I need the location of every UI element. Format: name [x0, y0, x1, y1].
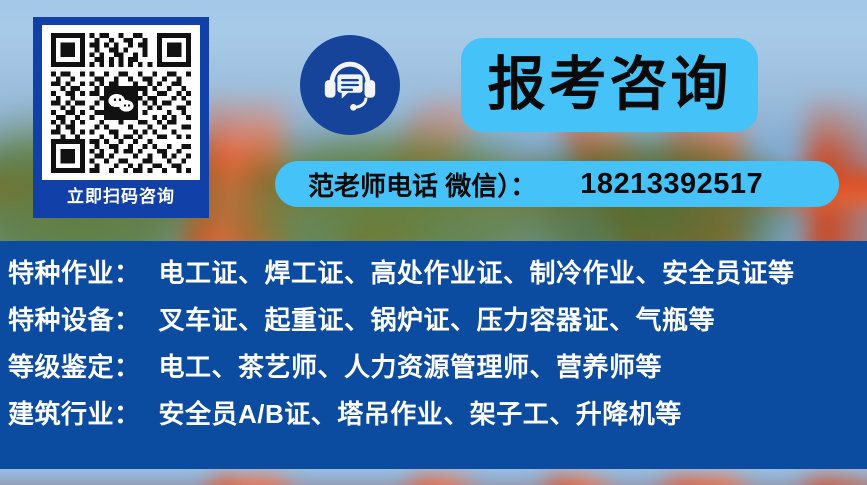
- category-items: 电工证、焊工证、高处作业证、制冷作业、安全员证等: [159, 253, 795, 290]
- category-label: 特种设备：: [8, 300, 141, 337]
- list-item: 建筑行业： 安全员A/B证、塔吊作业、架子工、升降机等: [0, 394, 867, 441]
- list-item: 等级鉴定： 电工、茶艺师、人力资源管理师、营养师等: [0, 347, 867, 394]
- category-items: 电工、茶艺师、人力资源管理师、营养师等: [159, 347, 663, 384]
- qr-code-card[interactable]: 立即扫码咨询: [33, 17, 209, 218]
- qr-code-surface: [42, 25, 200, 180]
- qr-card-caption: 立即扫码咨询: [36, 180, 206, 214]
- headset-support-icon: [300, 35, 400, 135]
- background-photo-bottom-blur: [0, 469, 867, 485]
- consult-title-text: 报考咨询: [487, 56, 731, 114]
- category-items: 安全员A/B证、塔吊作业、架子工、升降机等: [159, 394, 682, 431]
- list-item: 特种设备： 叉车证、起重证、锅炉证、压力容器证、气瓶等: [0, 300, 867, 347]
- promo-poster: 立即扫码咨询 报考咨询: [0, 0, 867, 485]
- certificate-list-band: 特种作业： 电工证、焊工证、高处作业证、制冷作业、安全员证等 特种设备： 叉车证…: [0, 241, 867, 469]
- background-photo-bottom: [0, 469, 867, 485]
- wechat-qr-code-icon: [51, 33, 191, 173]
- category-label: 特种作业：: [8, 253, 141, 290]
- contact-label: 范老师电话 微信）：: [308, 166, 536, 203]
- category-items: 叉车证、起重证、锅炉证、压力容器证、气瓶等: [159, 300, 716, 337]
- category-label: 等级鉴定：: [8, 347, 141, 384]
- consult-title-pill: 报考咨询: [461, 38, 758, 132]
- category-label: 建筑行业：: [8, 394, 141, 431]
- list-item: 特种作业： 电工证、焊工证、高处作业证、制冷作业、安全员证等: [0, 253, 867, 300]
- contact-phone-pill[interactable]: 范老师电话 微信）： 18213392517: [275, 161, 839, 207]
- contact-phone-number[interactable]: 18213392517: [580, 168, 763, 201]
